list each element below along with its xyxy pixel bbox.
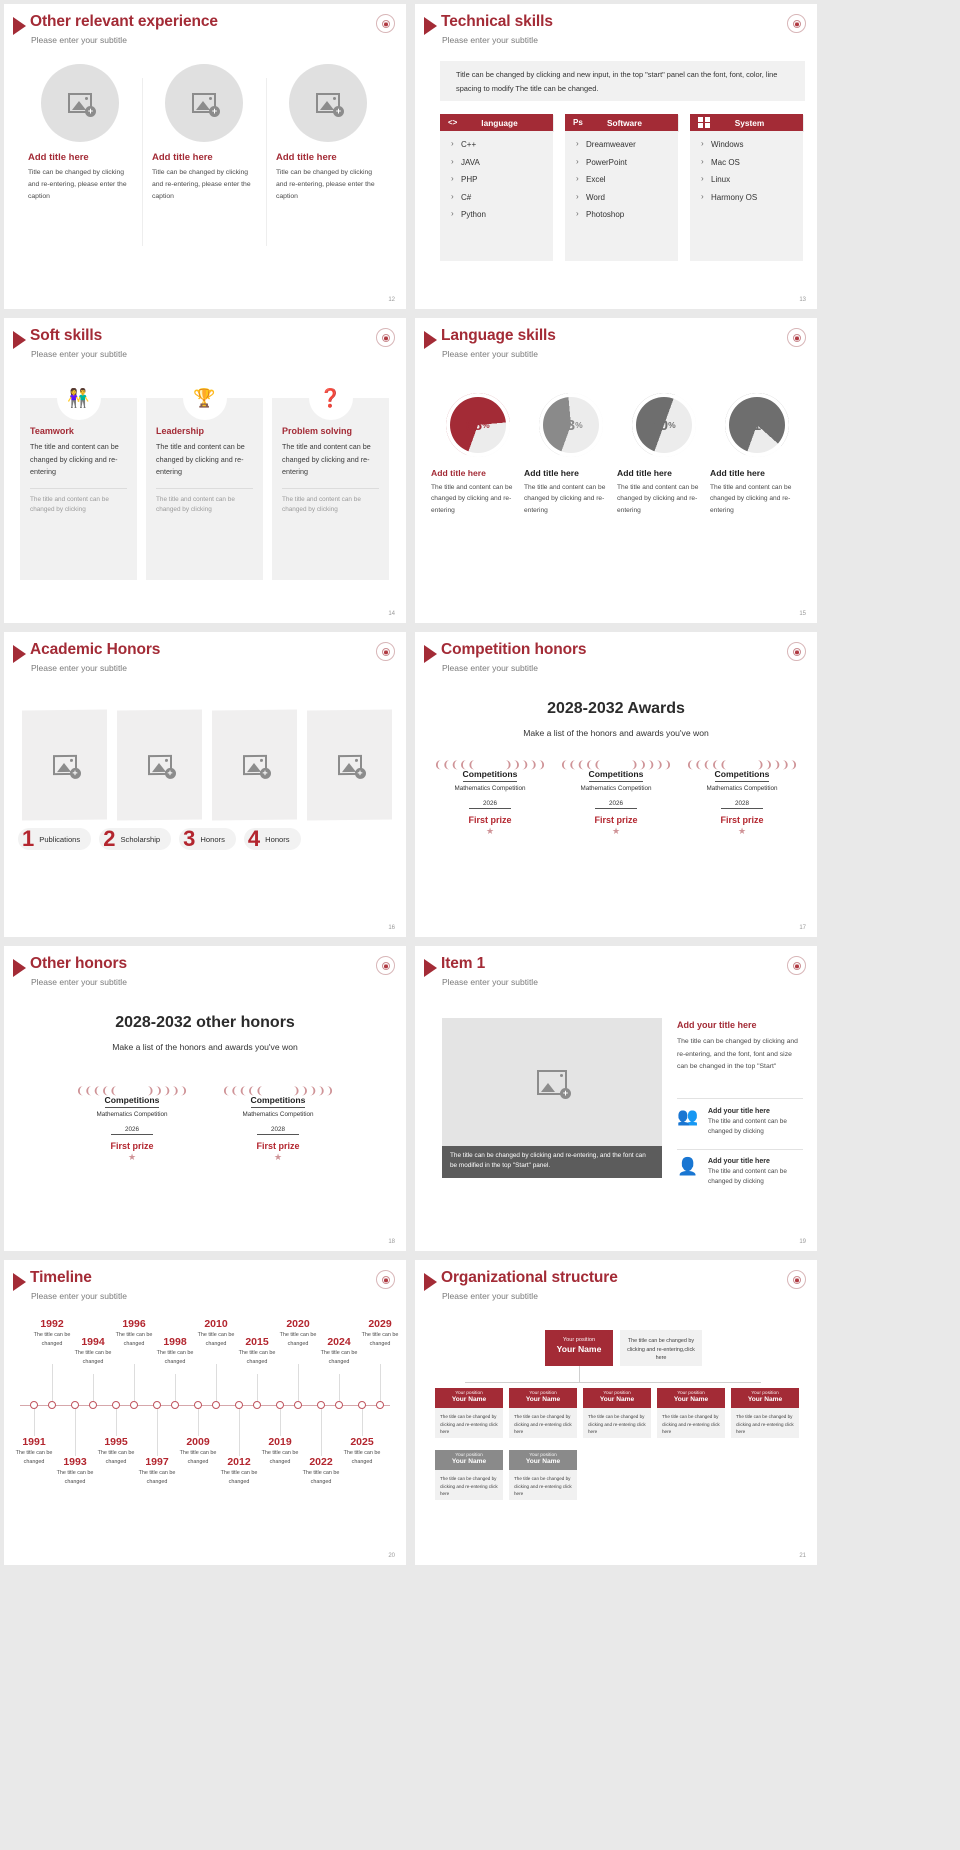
skill-column-system[interactable]: System Windows Mac OS Linux Harmony OS (690, 114, 803, 261)
laurel-left-icon: ❨❨❨❨❨ (560, 762, 582, 824)
org-root-node[interactable]: Your position Your Name (545, 1330, 613, 1366)
timeline-dot[interactable] (317, 1401, 325, 1409)
laurel-right-icon: ❨❨❨❨❨ (312, 1088, 334, 1150)
org-position: Your position (657, 1391, 725, 1396)
timeline-stem (216, 1364, 217, 1405)
experience-card[interactable]: + Add title here Title can be changed by… (142, 64, 266, 203)
timeline-text: The title can be changed (213, 1469, 265, 1486)
soft-skill-card[interactable]: 👫 Teamwork The title and content can be … (20, 398, 137, 580)
seal-logo-icon (376, 1270, 395, 1289)
ring-value: 68 (465, 417, 482, 434)
card-title: Add title here (276, 152, 380, 163)
timeline-dot[interactable] (276, 1401, 284, 1409)
org-node[interactable]: Your position Your Name The title can be… (435, 1388, 503, 1438)
list-item: Linux (699, 176, 794, 184)
column-header: System (690, 114, 803, 131)
org-node[interactable]: Your position Your Name The title can be… (657, 1388, 725, 1438)
image-placeholder-circle[interactable]: + (41, 64, 119, 142)
soft-skill-card[interactable]: ❓ Problem solving The title and content … (272, 398, 389, 580)
divider (156, 488, 253, 489)
org-node-header: Your position Your Name (509, 1450, 577, 1470)
timeline-stem (321, 1408, 322, 1456)
page-subtitle: Please enter your subtitle (31, 35, 127, 45)
image-caption: The title can be changed by clicking and… (442, 1146, 662, 1178)
list-item: PowerPoint (574, 159, 669, 167)
wreath-year: 2026 (595, 800, 637, 809)
honor-label-row: 1 Publications 2 Scholarship 3 Honors 4 … (18, 828, 398, 850)
column-header: <> language (440, 114, 553, 131)
page-number: 16 (388, 925, 395, 931)
card-body: Title can be changed by clicking and re-… (152, 167, 256, 203)
org-row-1: Your position Your Name The title can be… (435, 1388, 799, 1438)
timeline-dot[interactable] (235, 1401, 243, 1409)
org-position: Your position (509, 1391, 577, 1396)
star-icon: ★ (738, 826, 746, 837)
windows-icon (698, 117, 716, 129)
wreath-sub: Mathematics Competition (451, 785, 529, 792)
timeline-text: The title can be changed (149, 1349, 201, 1366)
card-footnote: The title and content can be changed by … (156, 495, 253, 516)
org-node-header: Your position Your Name (509, 1388, 577, 1408)
skill-column-software[interactable]: Ps Software Dreamweaver PowerPoint Excel… (565, 114, 678, 261)
image-placeholder[interactable]: + (442, 1018, 662, 1146)
timeline-dot[interactable] (112, 1401, 120, 1409)
card-footnote: The title and content can be changed by … (282, 495, 379, 516)
item-body: The title and content can be changed by … (710, 482, 803, 516)
org-row-2: Your position Your Name The title can be… (435, 1450, 577, 1500)
award-wreath[interactable]: ❨❨❨❨❨ ❨❨❨❨❨ Competitions Mathematics Com… (561, 760, 671, 833)
page-number: 14 (388, 611, 395, 617)
timeline-dot[interactable] (253, 1401, 261, 1409)
timeline-dot[interactable] (335, 1401, 343, 1409)
title-arrow-icon (13, 1273, 26, 1291)
org-note: The title can be changed by clicking and… (620, 1330, 702, 1366)
star-icon: ★ (486, 826, 494, 837)
timeline-year: 2029 (354, 1318, 406, 1330)
list-item-body: The title and content can be changed by … (708, 1117, 803, 1138)
column-header: Ps Software (565, 114, 678, 131)
card-title: Teamwork (30, 426, 127, 436)
progress-ring-row: 68% Add title here The title and content… (431, 393, 803, 516)
timeline-stem (380, 1364, 381, 1405)
experience-card[interactable]: + Add title here Title can be changed by… (266, 64, 390, 203)
divider (677, 1149, 803, 1150)
wreath-prize: First prize (239, 1141, 317, 1151)
timeline-stem (134, 1364, 135, 1405)
timeline-stem (157, 1408, 158, 1456)
title-arrow-icon (13, 17, 26, 35)
slide-timeline[interactable]: Timeline Please enter your subtitle 1992… (4, 1260, 406, 1565)
page-subtitle: Please enter your subtitle (442, 977, 538, 987)
wreath-sub: Mathematics Competition (239, 1111, 317, 1118)
slide-technical-skills[interactable]: Technical skills Please enter your subti… (415, 4, 817, 309)
wreath-year: 2028 (257, 1126, 299, 1135)
page-subtitle: Please enter your subtitle (31, 663, 127, 673)
image-placeholder[interactable]: + (22, 710, 107, 821)
progress-ring: 50% (632, 393, 696, 457)
wreath-year: 2026 (469, 800, 511, 809)
progress-ring: 43% (539, 393, 603, 457)
list-item: Harmony OS (699, 194, 794, 202)
page-title: Language skills (441, 327, 556, 345)
laurel-right-icon: ❨❨❨❨❨ (166, 1088, 188, 1150)
column-label: language (466, 118, 545, 128)
image-placeholder[interactable]: + (307, 710, 392, 821)
timeline-dot[interactable] (194, 1401, 202, 1409)
org-position: Your position (435, 1453, 503, 1458)
card-footnote: The title and content can be changed by … (30, 495, 127, 516)
award-subhead: Make a list of the honors and awards you… (415, 728, 817, 738)
timeline-stem (280, 1408, 281, 1436)
award-wreath[interactable]: ❨❨❨❨❨ ❨❨❨❨❨ Competitions Mathematics Com… (223, 1086, 333, 1159)
honor-text: Honors (265, 835, 289, 844)
experience-card[interactable]: + Add title here Title can be changed by… (18, 64, 142, 203)
experience-card-row: + Add title here Title can be changed by… (18, 64, 392, 203)
column-label: Software (591, 118, 670, 128)
wreath-sub: Mathematics Competition (93, 1111, 171, 1118)
list-item: Python (449, 211, 544, 219)
timeline-year: 2019 (254, 1436, 306, 1448)
timeline-dot[interactable] (153, 1401, 161, 1409)
page-title: Organizational structure (441, 1269, 618, 1287)
timeline-dot[interactable] (376, 1401, 384, 1409)
card-title: Add title here (28, 152, 132, 163)
list-item-title: Add your title here (708, 1108, 803, 1115)
laurel-right-icon: ❨❨❨❨❨ (776, 762, 798, 824)
org-name: Your Name (545, 1344, 613, 1354)
org-position: Your position (545, 1337, 613, 1343)
add-image-icon: + (316, 93, 340, 113)
list-item: C# (449, 194, 544, 202)
org-node[interactable]: Your position Your Name The title can be… (509, 1450, 577, 1500)
list-item: Excel (574, 176, 669, 184)
timeline-stem (239, 1408, 240, 1456)
award-headline: 2028-2032 other honors (4, 1014, 406, 1032)
honor-label[interactable]: 2 Scholarship (99, 828, 171, 850)
timeline-stem (34, 1408, 35, 1436)
laurel-left-icon: ❨❨❨❨❨ (76, 1088, 98, 1150)
page-title: Academic Honors (30, 641, 160, 659)
page-subtitle: Please enter your subtitle (31, 977, 127, 987)
laurel-right-icon: ❨❨❨❨❨ (524, 762, 546, 824)
slide-other-honors[interactable]: Other honors Please enter your subtitle … (4, 946, 406, 1251)
code-icon: <> (448, 118, 466, 127)
honor-text: Honors (200, 835, 224, 844)
org-node[interactable]: Your position Your Name The title can be… (435, 1450, 503, 1500)
timeline-dot[interactable] (30, 1401, 38, 1409)
wreath-prize: First prize (93, 1141, 171, 1151)
card-title: Problem solving (282, 426, 379, 436)
timeline-text: The title can be changed (67, 1349, 119, 1366)
ring-unit: % (575, 420, 583, 430)
seal-logo-icon (376, 14, 395, 33)
card-title: Leadership (156, 426, 253, 436)
divider (282, 488, 379, 489)
add-image-icon: + (192, 93, 216, 113)
divider (30, 488, 127, 489)
timeline-dot[interactable] (48, 1401, 56, 1409)
wreath-prize: First prize (451, 815, 529, 825)
honor-text: Scholarship (120, 835, 160, 844)
org-node-body: The title can be changed by clicking and… (657, 1408, 725, 1438)
add-image-icon: + (338, 755, 362, 775)
honor-label[interactable]: 1 Publications (18, 828, 91, 850)
card-body: Title can be changed by clicking and re-… (276, 167, 380, 203)
seal-logo-icon (787, 642, 806, 661)
org-node-body: The title can be changed by clicking and… (583, 1408, 651, 1438)
award-wreath[interactable]: ❨❨❨❨❨ ❨❨❨❨❨ Competitions Mathematics Com… (77, 1086, 187, 1159)
item-body: The title and content can be changed by … (617, 482, 710, 516)
seal-logo-icon (787, 1270, 806, 1289)
wreath-prize: First prize (703, 815, 781, 825)
timeline-year: 2010 (190, 1318, 242, 1330)
image-placeholder-circle[interactable]: + (289, 64, 367, 142)
award-wreath[interactable]: ❨❨❨❨❨ ❨❨❨❨❨ Competitions Mathematics Com… (435, 760, 545, 833)
timeline-event[interactable]: 2029The title can be changed (354, 1318, 406, 1348)
leadership-podium-icon: 🏆 (183, 376, 227, 420)
wreath-row: ❨❨❨❨❨ ❨❨❨❨❨ Competitions Mathematics Com… (20, 1086, 390, 1159)
timeline-stem (198, 1408, 199, 1436)
award-headline: 2028-2032 Awards (415, 700, 817, 718)
honor-label[interactable]: 3 Honors (179, 828, 236, 850)
page-subtitle: Please enter your subtitle (31, 349, 127, 359)
seal-logo-icon (787, 14, 806, 33)
timeline-year: 1992 (26, 1318, 78, 1330)
org-name: Your Name (583, 1396, 651, 1403)
ring-value: 81 (744, 417, 761, 434)
org-name: Your Name (435, 1396, 503, 1403)
list-item: C++ (449, 141, 544, 149)
org-node-body: The title can be changed by clicking and… (731, 1408, 799, 1438)
slide-deck: Other relevant experience Please enter y… (0, 0, 960, 1569)
timeline-text: The title can be changed (49, 1469, 101, 1486)
star-icon: ★ (274, 1152, 282, 1163)
org-node[interactable]: Your position Your Name The title can be… (583, 1388, 651, 1438)
timeline-dot[interactable] (130, 1401, 138, 1409)
seal-logo-icon (787, 956, 806, 975)
wreath-sub: Mathematics Competition (703, 785, 781, 792)
soft-skill-card[interactable]: 🏆 Leadership The title and content can b… (146, 398, 263, 580)
timeline-stem (52, 1364, 53, 1405)
wreath-row: ❨❨❨❨❨ ❨❨❨❨❨ Competitions Mathematics Com… (431, 760, 801, 833)
timeline-text: The title can be changed (131, 1469, 183, 1486)
honor-number: 2 (103, 828, 115, 850)
card-body: The title and content can be changed by … (282, 441, 379, 479)
honor-text: Publications (39, 835, 80, 844)
intro-banner: Title can be changed by clicking and new… (440, 61, 805, 101)
title-arrow-icon (424, 645, 437, 663)
page-number: 12 (388, 297, 395, 303)
page-title: Item 1 (441, 955, 485, 973)
page-subtitle: Please enter your subtitle (31, 1291, 127, 1301)
honor-number: 4 (248, 828, 260, 850)
progress-ring: 81% (725, 393, 789, 457)
org-name: Your Name (731, 1396, 799, 1403)
timeline-event[interactable]: 2025The title can be changed (336, 1436, 388, 1466)
list-item: Dreamweaver (574, 141, 669, 149)
seal-logo-icon (787, 328, 806, 347)
page-title: Competition honors (441, 641, 586, 659)
skill-column-language[interactable]: <> language C++ JAVA PHP C# Python (440, 114, 553, 261)
org-name: Your Name (435, 1458, 503, 1465)
org-node-body: The title can be changed by clicking and… (435, 1408, 503, 1438)
ring-unit: % (482, 420, 490, 430)
org-position: Your position (731, 1391, 799, 1396)
timeline-text: The title can be changed (295, 1469, 347, 1486)
slide-soft-skills[interactable]: Soft skills Please enter your subtitle 👫… (4, 318, 406, 623)
user-single-icon: 👤 (677, 1158, 701, 1180)
progress-ring: 68% (446, 393, 510, 457)
org-position: Your position (435, 1391, 503, 1396)
page-title: Technical skills (441, 13, 553, 31)
star-icon: ★ (612, 826, 620, 837)
slide-academic-honors[interactable]: Academic Honors Please enter your subtit… (4, 632, 406, 937)
slide-other-relevant-experience[interactable]: Other relevant experience Please enter y… (4, 4, 406, 309)
timeline-year: 1996 (108, 1318, 160, 1330)
column-label: System (716, 118, 795, 128)
org-name: Your Name (657, 1396, 725, 1403)
timeline-text: The title can be changed (336, 1449, 388, 1466)
divider (677, 1098, 803, 1099)
image-placeholder[interactable]: + (212, 710, 297, 821)
wreath-prize: First prize (577, 815, 655, 825)
timeline-text: The title can be changed (313, 1349, 365, 1366)
list-item: Word (574, 194, 669, 202)
timeline-stem (298, 1364, 299, 1405)
title-arrow-icon (424, 17, 437, 35)
item-title: Add title here (524, 468, 617, 478)
org-node-body: The title can be changed by clicking and… (509, 1408, 577, 1438)
timeline-dot[interactable] (89, 1401, 97, 1409)
timeline-text: The title can be changed (354, 1331, 406, 1348)
timeline-year: 2025 (336, 1436, 388, 1448)
card-body: Title can be changed by clicking and re-… (28, 167, 132, 203)
page-title: Other honors (30, 955, 127, 973)
list-item[interactable]: 👥 Add your title here The title and cont… (677, 1108, 803, 1138)
timeline-year: 2020 (272, 1318, 324, 1330)
column-items: Dreamweaver PowerPoint Excel Word Photos… (565, 131, 678, 261)
page-number: 15 (799, 611, 806, 617)
problem-solving-icon: ❓ (309, 376, 353, 420)
slide-competition-honors[interactable]: Competition honors Please enter your sub… (415, 632, 817, 937)
list-item: Photoshop (574, 211, 669, 219)
honor-number: 3 (183, 828, 195, 850)
org-node-body: The title can be changed by clicking and… (435, 1470, 503, 1500)
timeline-dot[interactable] (71, 1401, 79, 1409)
add-image-icon: + (68, 93, 92, 113)
honor-label[interactable]: 4 Honors (244, 828, 301, 850)
page-title: Other relevant experience (30, 13, 218, 31)
slide-item-1[interactable]: Item 1 Please enter your subtitle + The … (415, 946, 817, 1251)
honor-image-row: + + + + (22, 710, 392, 820)
honor-number: 1 (22, 828, 34, 850)
page-number: 13 (799, 297, 806, 303)
title-arrow-icon (424, 1273, 437, 1291)
slide-language-skills[interactable]: Language skills Please enter your subtit… (415, 318, 817, 623)
list-item: PHP (449, 176, 544, 184)
timeline-dot[interactable] (212, 1401, 220, 1409)
timeline-text: The title can be changed (231, 1349, 283, 1366)
org-name: Your Name (509, 1396, 577, 1403)
page-number: 20 (388, 1553, 395, 1559)
ring-unit: % (761, 420, 769, 430)
timeline-dot[interactable] (294, 1401, 302, 1409)
award-wreath[interactable]: ❨❨❨❨❨ ❨❨❨❨❨ Competitions Mathematics Com… (687, 760, 797, 833)
timeline-stem (362, 1408, 363, 1436)
org-node-header: Your position Your Name (657, 1388, 725, 1408)
timeline-year: 1995 (90, 1436, 142, 1448)
item-title: Add title here (617, 468, 710, 478)
language-skill-item[interactable]: 50% Add title here The title and content… (617, 393, 710, 516)
language-skill-item[interactable]: 68% Add title here The title and content… (431, 393, 524, 516)
list-item-body: The title and content can be changed by … (708, 1167, 803, 1188)
org-node-body: The title can be changed by clicking and… (509, 1470, 577, 1500)
content-body: The title can be changed by clicking and… (677, 1036, 803, 1074)
title-arrow-icon (424, 331, 437, 349)
image-placeholder-circle[interactable]: + (165, 64, 243, 142)
seal-logo-icon (376, 642, 395, 661)
wreath-year: 2026 (111, 1126, 153, 1135)
list-item: JAVA (449, 159, 544, 167)
wreath-year: 2028 (721, 800, 763, 809)
org-node[interactable]: Your position Your Name The title can be… (731, 1388, 799, 1438)
page-title: Soft skills (30, 327, 102, 345)
timeline-year: 1991 (8, 1436, 60, 1448)
org-position: Your position (583, 1391, 651, 1396)
org-name: Your Name (509, 1458, 577, 1465)
skill-columns: <> language C++ JAVA PHP C# Python Ps So… (440, 114, 805, 261)
laurel-left-icon: ❨❨❨❨❨ (434, 762, 456, 824)
seal-logo-icon (376, 956, 395, 975)
item-title: Add title here (710, 468, 803, 478)
seal-logo-icon (376, 328, 395, 347)
page-subtitle: Please enter your subtitle (442, 1291, 538, 1301)
timeline-dot[interactable] (171, 1401, 179, 1409)
users-group-icon: 👥 (677, 1108, 701, 1130)
timeline-stem (116, 1408, 117, 1436)
org-node-header: Your position Your Name (435, 1450, 503, 1470)
wreath-sub: Mathematics Competition (577, 785, 655, 792)
add-image-icon: + (53, 755, 77, 775)
list-item[interactable]: 👤 Add your title here The title and cont… (677, 1158, 803, 1188)
slide-organizational-structure[interactable]: Organizational structure Please enter yo… (415, 1260, 817, 1565)
column-items: Windows Mac OS Linux Harmony OS (690, 131, 803, 261)
list-item: Mac OS (699, 159, 794, 167)
image-placeholder[interactable]: + (117, 710, 202, 821)
ring-value: 43 (558, 417, 575, 434)
org-node[interactable]: Your position Your Name The title can be… (509, 1388, 577, 1438)
soft-skill-row: 👫 Teamwork The title and content can be … (20, 398, 390, 580)
page-number: 19 (799, 1239, 806, 1245)
timeline-year: 2009 (172, 1436, 224, 1448)
teamwork-icon: 👫 (57, 376, 101, 420)
item-body: The title and content can be changed by … (431, 482, 524, 516)
ring-value: 50 (651, 417, 668, 434)
page-number: 17 (799, 925, 806, 931)
timeline-dot[interactable] (358, 1401, 366, 1409)
laurel-left-icon: ❨❨❨❨❨ (686, 762, 708, 824)
list-item: Windows (699, 141, 794, 149)
ring-unit: % (668, 420, 676, 430)
page-title: Timeline (30, 1269, 92, 1287)
page-subtitle: Please enter your subtitle (442, 663, 538, 673)
language-skill-item[interactable]: 43% Add title here The title and content… (524, 393, 617, 516)
card-body: The title and content can be changed by … (30, 441, 127, 479)
org-position: Your position (509, 1453, 577, 1458)
title-arrow-icon (13, 645, 26, 663)
photoshop-icon: Ps (573, 118, 591, 127)
language-skill-item[interactable]: 81% Add title here The title and content… (710, 393, 803, 516)
